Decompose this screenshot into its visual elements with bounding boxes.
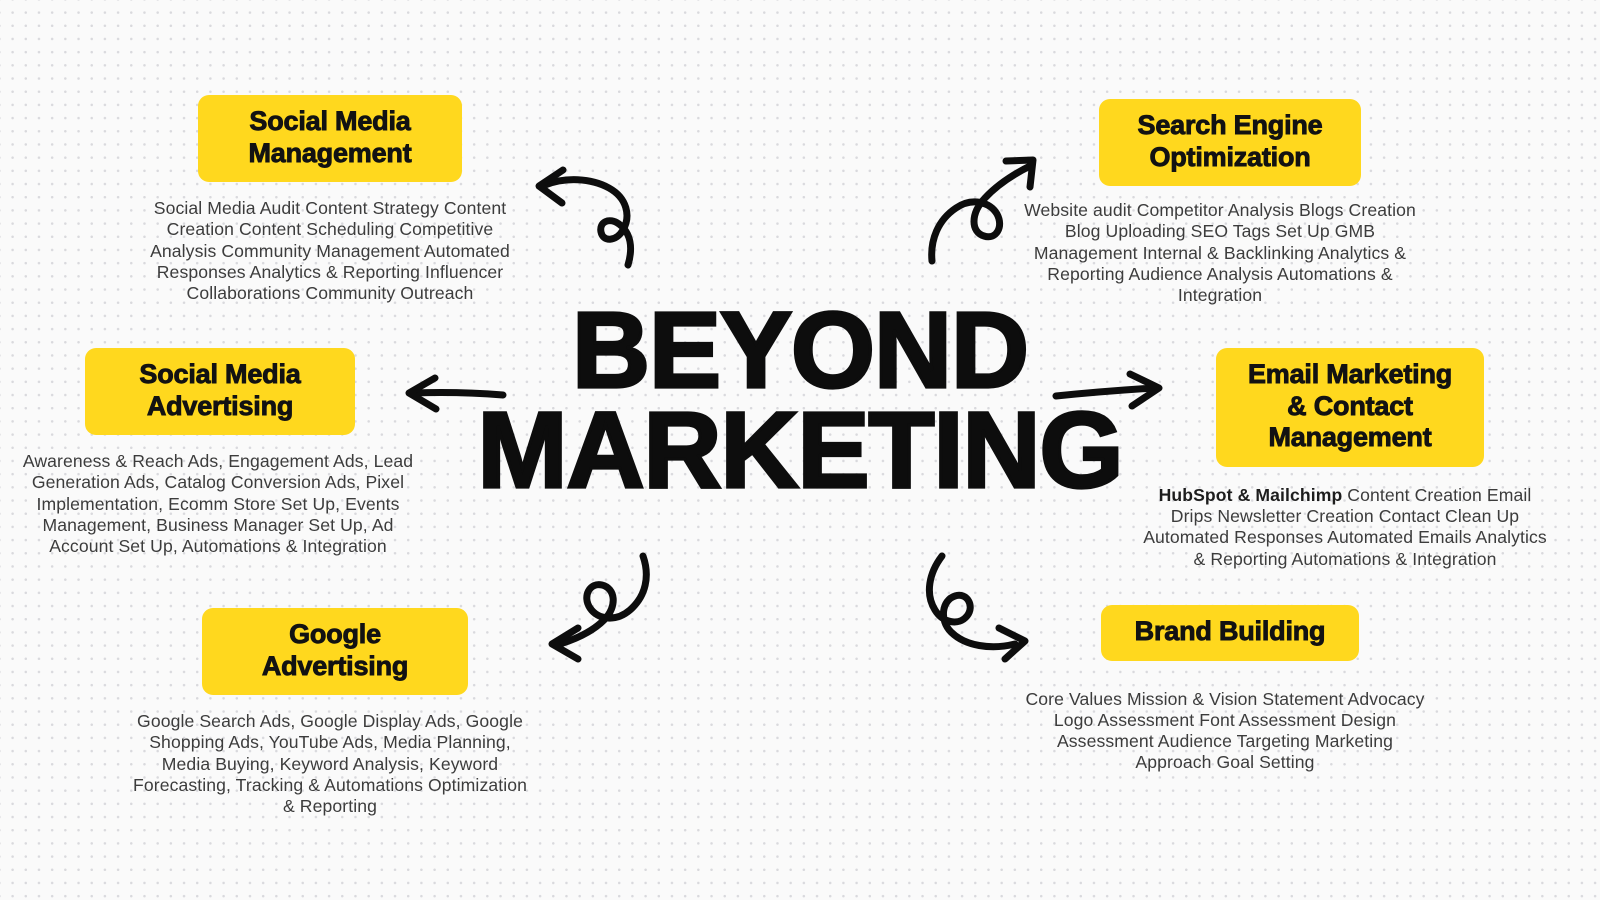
- service-block-social-media-management: Social Media Management Social Media Aud…: [140, 95, 520, 305]
- badge-brand-building[interactable]: Brand Building: [1101, 605, 1359, 661]
- service-block-search-engine-optimization: Search Engine Optimization Website audit…: [1020, 99, 1440, 307]
- curved-arrow-up-left-icon: [515, 160, 645, 270]
- description-social-media-advertising: Awareness & Reach Ads, Engagement Ads, L…: [20, 451, 416, 557]
- description-google-advertising: Google Search Ads, Google Display Ads, G…: [130, 711, 530, 817]
- badge-search-engine-optimization[interactable]: Search Engine Optimization: [1099, 99, 1361, 186]
- service-block-google-advertising: Google Advertising Google Search Ads, Go…: [130, 608, 540, 818]
- curved-arrow-down-left-icon: [530, 540, 660, 655]
- infographic-canvas: BEYOND MARKETING Social Media Management…: [0, 0, 1600, 900]
- service-block-email-marketing: Email Marketing & Contact Management Hub…: [1140, 348, 1560, 570]
- badge-email-marketing[interactable]: Email Marketing & Contact Management: [1216, 348, 1484, 467]
- badge-social-media-management[interactable]: Social Media Management: [198, 95, 462, 182]
- service-block-brand-building: Brand Building Core Values Mission & Vis…: [1020, 605, 1440, 774]
- description-brand-building: Core Values Mission & Vision Statement A…: [1020, 689, 1430, 774]
- badge-social-media-advertising[interactable]: Social Media Advertising: [85, 348, 355, 435]
- description-email-marketing-highlight: HubSpot & Mailchimp: [1159, 485, 1343, 505]
- page-title: BEYOND MARKETING: [440, 300, 1160, 501]
- badge-google-advertising[interactable]: Google Advertising: [202, 608, 468, 695]
- description-search-engine-optimization: Website audit Competitor Analysis Blogs …: [1020, 200, 1420, 306]
- description-email-marketing: HubSpot & Mailchimp Content Creation Ema…: [1140, 485, 1550, 570]
- service-block-social-media-advertising: Social Media Advertising Awareness & Rea…: [20, 348, 420, 558]
- description-social-media-management: Social Media Audit Content Strategy Cont…: [150, 198, 510, 304]
